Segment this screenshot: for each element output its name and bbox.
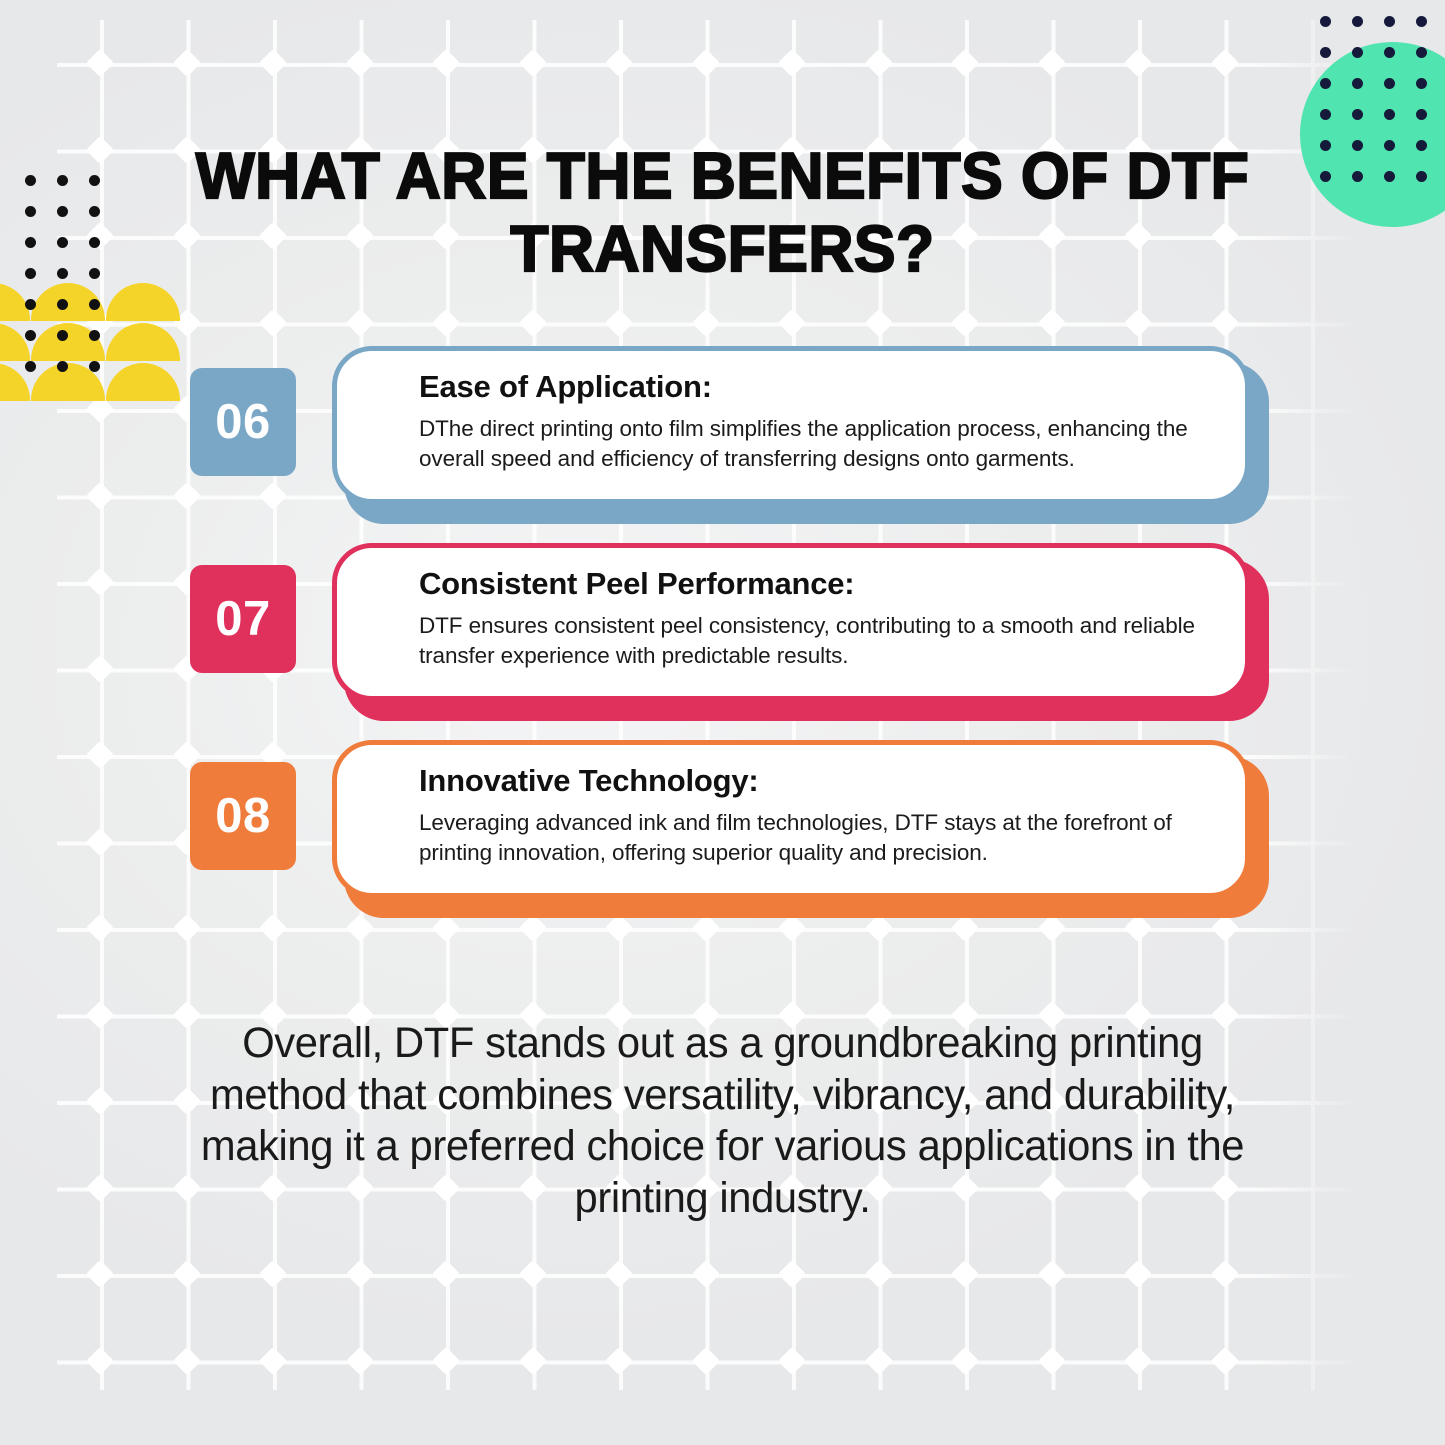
dot-icon xyxy=(1352,78,1363,89)
dot-icon xyxy=(1320,47,1331,58)
dot-icon xyxy=(89,268,100,279)
grid-node-diamond xyxy=(605,308,633,336)
grid-node-diamond xyxy=(345,308,373,336)
dot-icon xyxy=(89,330,100,341)
dot-icon xyxy=(1320,109,1331,120)
grid-node-diamond xyxy=(778,1346,806,1374)
grid-node-diamond xyxy=(172,49,200,77)
benefit-card: Consistent Peel Performance:DTF ensures … xyxy=(332,543,1257,713)
dot-icon xyxy=(57,330,68,341)
dot-icon xyxy=(57,206,68,217)
benefit-card-row: 08Innovative Technology:Leveraging advan… xyxy=(0,734,1445,931)
card-content: Innovative Technology:Leveraging advance… xyxy=(332,740,1250,898)
card-content: Ease of Application:DThe direct printing… xyxy=(332,346,1250,504)
dot-icon xyxy=(1352,47,1363,58)
dot-pattern-top-left xyxy=(14,165,110,382)
grid-node-diamond xyxy=(86,1173,114,1201)
grid-node-diamond xyxy=(778,49,806,77)
dot-icon xyxy=(25,361,36,372)
grid-node-diamond xyxy=(259,49,287,77)
grid-node-diamond xyxy=(1124,1346,1152,1374)
dot-icon xyxy=(1384,109,1395,120)
dot-icon xyxy=(1320,171,1331,182)
summary-paragraph: Overall, DTF stands out as a groundbreak… xyxy=(191,1018,1253,1224)
grid-node-diamond xyxy=(951,49,979,77)
page-title: WHAT ARE THE BENEFITS OF DTF TRANSFERS? xyxy=(183,140,1263,286)
grid-node-diamond xyxy=(951,1346,979,1374)
dot-icon xyxy=(25,330,36,341)
infographic-canvas: WHAT ARE THE BENEFITS OF DTF TRANSFERS? … xyxy=(0,0,1445,1445)
dot-icon xyxy=(1352,171,1363,182)
grid-node-diamond xyxy=(345,1346,373,1374)
dot-icon xyxy=(89,237,100,248)
grid-node-diamond xyxy=(432,1260,460,1288)
dot-icon xyxy=(57,237,68,248)
grid-node-diamond xyxy=(172,1346,200,1374)
grid-node-diamond xyxy=(951,308,979,336)
benefit-card-row: 06Ease of Application:DThe direct printi… xyxy=(0,340,1445,537)
grid-node-diamond xyxy=(1210,1346,1238,1374)
card-content: Consistent Peel Performance:DTF ensures … xyxy=(332,543,1250,701)
grid-node-diamond xyxy=(86,1087,114,1115)
card-heading: Consistent Peel Performance: xyxy=(419,566,1211,602)
card-heading: Ease of Application: xyxy=(419,369,1211,405)
grid-node-diamond xyxy=(951,1260,979,1288)
dot-icon xyxy=(57,299,68,310)
grid-node-diamond xyxy=(1210,49,1238,77)
grid-node-diamond xyxy=(1210,308,1238,336)
dot-icon xyxy=(1320,16,1331,27)
dot-icon xyxy=(25,299,36,310)
card-number-badge: 07 xyxy=(190,565,296,673)
card-heading: Innovative Technology: xyxy=(419,763,1211,799)
dot-icon xyxy=(1384,16,1395,27)
grid-node-diamond xyxy=(259,308,287,336)
grid-node-diamond xyxy=(259,1260,287,1288)
grid-node-diamond xyxy=(1037,49,1065,77)
card-body-text: Leveraging advanced ink and film technol… xyxy=(419,808,1211,868)
dot-icon xyxy=(1384,140,1395,151)
dot-icon xyxy=(89,361,100,372)
benefit-card: Innovative Technology:Leveraging advance… xyxy=(332,740,1257,910)
dot-icon xyxy=(1416,47,1427,58)
grid-node-diamond xyxy=(259,1346,287,1374)
grid-node-diamond xyxy=(691,1260,719,1288)
semicircle-icon xyxy=(106,323,180,361)
dot-pattern-top-right xyxy=(1309,6,1437,192)
grid-node-diamond xyxy=(86,49,114,77)
benefit-card-list: 06Ease of Application:DThe direct printi… xyxy=(0,340,1445,931)
grid-node-diamond xyxy=(1124,308,1152,336)
grid-node-diamond xyxy=(86,1000,114,1028)
dot-icon xyxy=(1416,16,1427,27)
grid-node-diamond xyxy=(518,308,546,336)
dot-icon xyxy=(25,237,36,248)
dot-icon xyxy=(1416,78,1427,89)
dot-icon xyxy=(89,206,100,217)
grid-node-diamond xyxy=(1124,49,1152,77)
benefit-card-row: 07Consistent Peel Performance:DTF ensure… xyxy=(0,537,1445,734)
grid-node-diamond xyxy=(86,1346,114,1374)
card-number-badge: 08 xyxy=(190,762,296,870)
semicircle-icon xyxy=(106,283,180,321)
semicircle-icon xyxy=(106,363,180,401)
dot-icon xyxy=(89,175,100,186)
grid-node-diamond xyxy=(345,49,373,77)
dot-icon xyxy=(57,268,68,279)
card-body-text: DTF ensures consistent peel consistency,… xyxy=(419,611,1211,671)
grid-node-diamond xyxy=(518,1346,546,1374)
dot-icon xyxy=(25,175,36,186)
grid-node-diamond xyxy=(86,1260,114,1288)
grid-node-diamond xyxy=(691,49,719,77)
grid-node-diamond xyxy=(864,49,892,77)
grid-node-diamond xyxy=(605,1260,633,1288)
grid-node-diamond xyxy=(345,1260,373,1288)
grid-node-diamond xyxy=(1210,1260,1238,1288)
grid-node-diamond xyxy=(172,1260,200,1288)
grid-node-diamond xyxy=(1037,1346,1065,1374)
grid-node-diamond xyxy=(1124,1260,1152,1288)
dot-icon xyxy=(1352,109,1363,120)
dot-icon xyxy=(1416,140,1427,151)
dot-icon xyxy=(1320,140,1331,151)
grid-node-diamond xyxy=(1037,308,1065,336)
grid-node-diamond xyxy=(86,135,114,163)
grid-node-diamond xyxy=(864,1346,892,1374)
dot-icon xyxy=(25,206,36,217)
card-body-text: DThe direct printing onto film simplifie… xyxy=(419,414,1211,474)
benefit-card: Ease of Application:DThe direct printing… xyxy=(332,346,1257,516)
grid-node-diamond xyxy=(432,1346,460,1374)
grid-node-diamond xyxy=(518,49,546,77)
grid-node-diamond xyxy=(864,308,892,336)
dot-icon xyxy=(57,175,68,186)
dot-icon xyxy=(1384,171,1395,182)
dot-icon xyxy=(1352,16,1363,27)
dot-icon xyxy=(1416,109,1427,120)
grid-node-diamond xyxy=(1037,1260,1065,1288)
grid-node-diamond xyxy=(432,49,460,77)
grid-node-diamond xyxy=(518,1260,546,1288)
grid-node-diamond xyxy=(605,49,633,77)
grid-node-diamond xyxy=(864,1260,892,1288)
grid-node-diamond xyxy=(605,1346,633,1374)
dot-icon xyxy=(1352,140,1363,151)
dot-icon xyxy=(25,268,36,279)
dot-icon xyxy=(57,361,68,372)
grid-node-diamond xyxy=(778,1260,806,1288)
grid-node-diamond xyxy=(432,308,460,336)
dot-icon xyxy=(89,299,100,310)
dot-icon xyxy=(1320,78,1331,89)
card-number-badge: 06 xyxy=(190,368,296,476)
grid-node-diamond xyxy=(691,308,719,336)
dot-icon xyxy=(1384,47,1395,58)
dot-icon xyxy=(1384,78,1395,89)
grid-node-diamond xyxy=(691,1346,719,1374)
dot-icon xyxy=(1416,171,1427,182)
grid-node-diamond xyxy=(778,308,806,336)
